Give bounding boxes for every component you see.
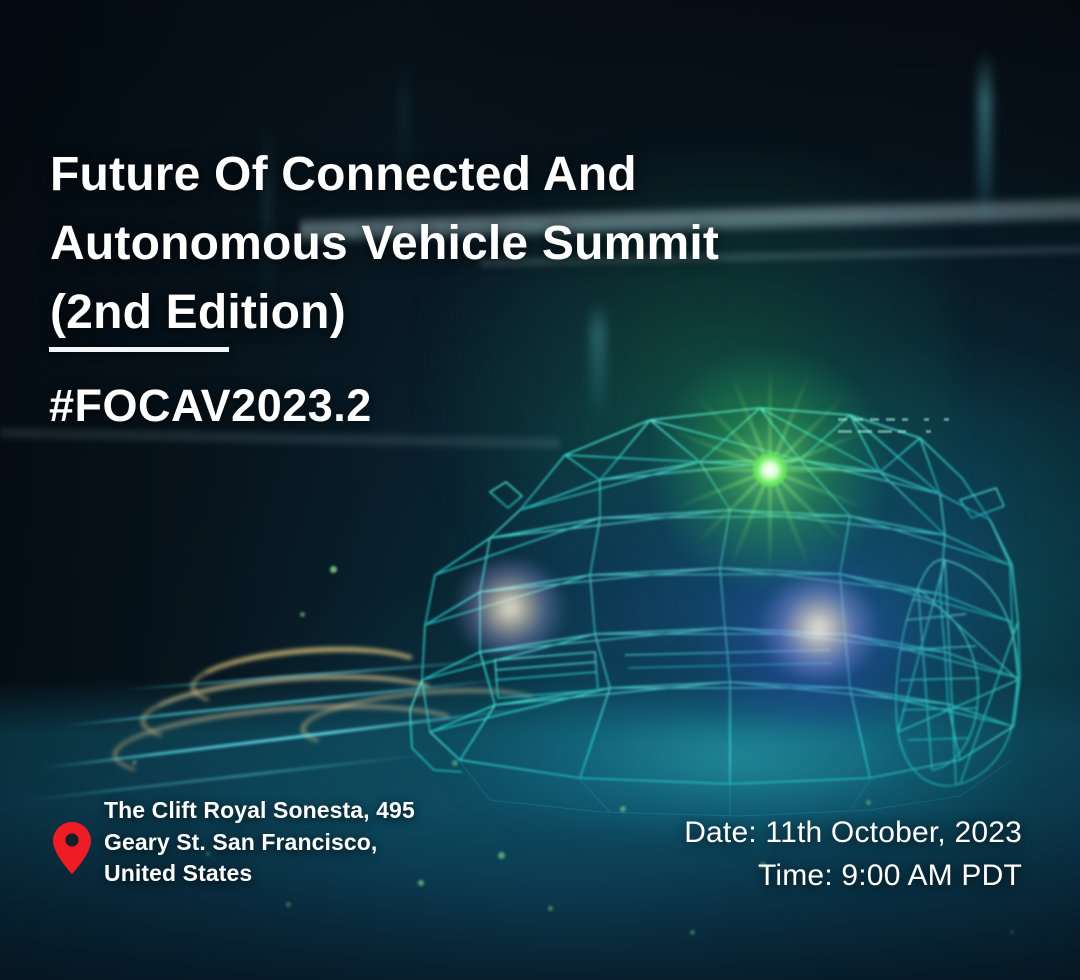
- event-date: Date: 11th October, 2023: [684, 812, 1022, 855]
- schedule-block: Date: 11th October, 2023 Time: 9:00 AM P…: [684, 812, 1022, 897]
- map-pin-icon: [52, 821, 92, 880]
- event-poster: Future Of Connected And Autonomous Vehic…: [0, 0, 1080, 980]
- event-hashtag: #FOCAV2023.2: [49, 380, 372, 432]
- venue-address: The Clift Royal Sonesta, 495 Geary St. S…: [104, 795, 415, 890]
- event-time: Time: 9:00 AM PDT: [684, 855, 1022, 898]
- title-divider: [49, 347, 229, 352]
- page-title: Future Of Connected And Autonomous Vehic…: [50, 140, 850, 347]
- venue-block: The Clift Royal Sonesta, 495 Geary St. S…: [52, 795, 415, 890]
